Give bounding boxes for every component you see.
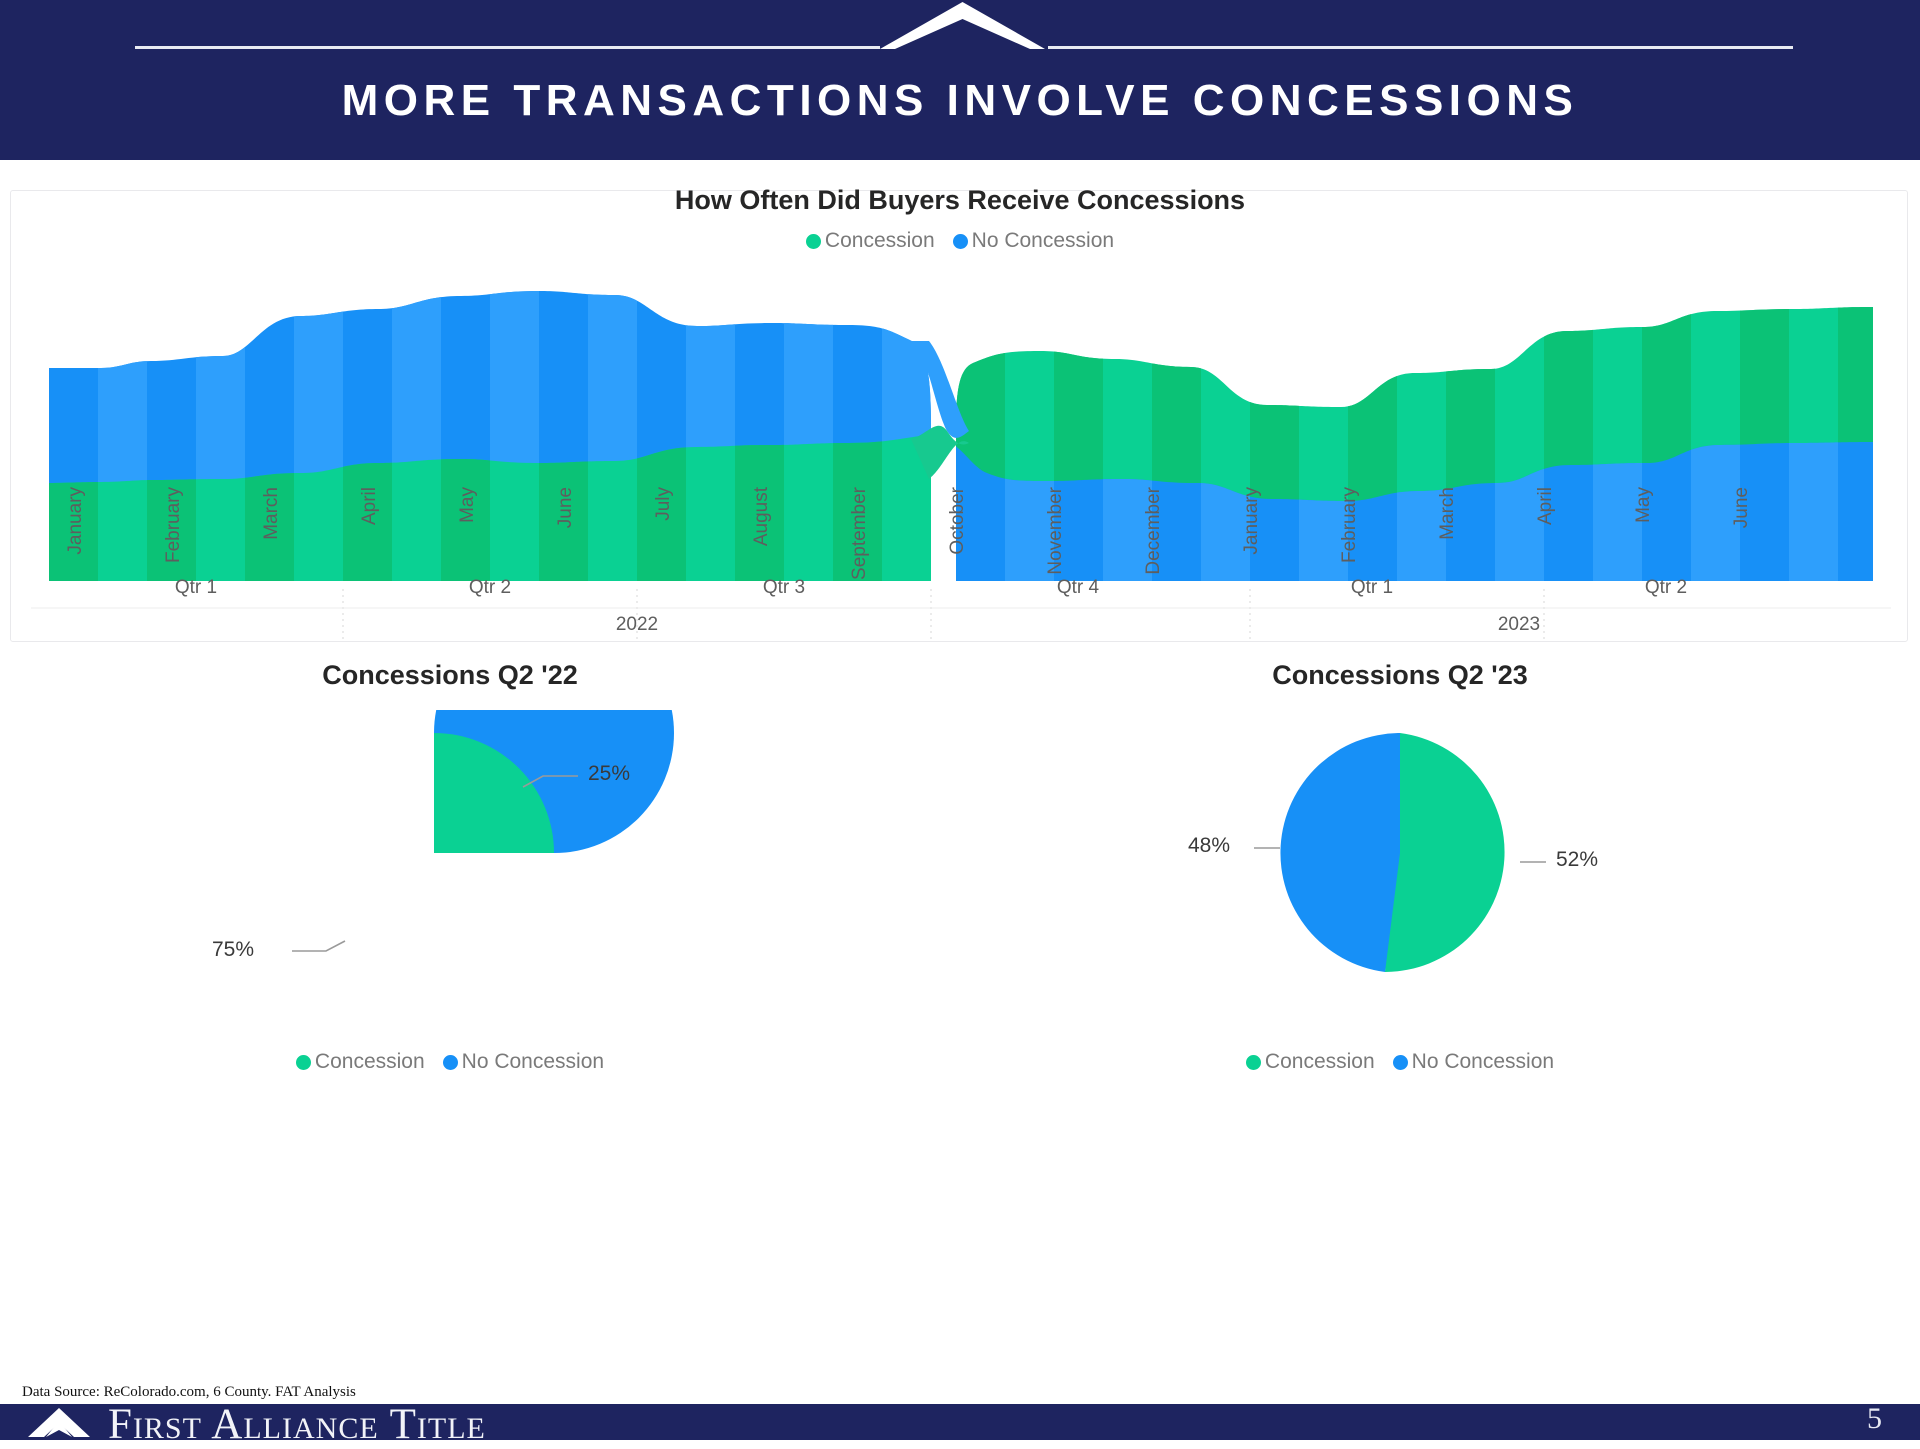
area-segment-2022-jan-sep: [11, 191, 971, 643]
pie-value-concession-q2-2022: 25%: [588, 762, 630, 786]
page-number: 5: [1867, 1402, 1882, 1436]
pie-leader-line-75: [292, 941, 345, 951]
header-rule-right: [1048, 46, 1793, 49]
pie-chart-q2-2023: 52% 48%: [960, 710, 1840, 1000]
chevron-up-logo-icon-footer: [28, 1408, 90, 1438]
pie-legend-q2-2022: Concession No Concession: [10, 1050, 890, 1074]
pie-legend-item-concession-q2-2022[interactable]: Concession: [296, 1050, 425, 1074]
pie-value-no-concession-q2-2023: 48%: [1188, 834, 1230, 858]
slide-header: MORE TRANSACTIONS INVOLVE CONCESSIONS: [0, 0, 1920, 160]
pie-legend-swatch-no-concession-q2-2022: [443, 1055, 458, 1070]
pie-chart-q2-2022: 25% 75%: [10, 710, 890, 1000]
pie-slice-concession-q2-2023[interactable]: [1385, 733, 1505, 972]
quarter-gridlines: [343, 589, 1544, 643]
chevron-up-logo-icon: [880, 2, 1045, 52]
pie-panel-q2-2023: Concessions Q2 '23 52% 48% Concession No…: [960, 650, 1840, 1080]
pie-legend-item-no-concession-q2-2023[interactable]: No Concession: [1393, 1050, 1554, 1074]
header-rule-left: [135, 46, 880, 49]
pie-legend-item-no-concession-q2-2022[interactable]: No Concession: [443, 1050, 604, 1074]
pie-legend-swatch-concession-q2-2023: [1246, 1055, 1261, 1070]
pie-panel-q2-2022: Concessions Q2 '22 25% 75% Concession No…: [10, 650, 890, 1080]
area-segment-2022-oct-2023-jun: [941, 191, 1909, 643]
pie-legend-swatch-concession-q2-2022: [296, 1055, 311, 1070]
pie-title-q2-2022: Concessions Q2 '22: [10, 660, 890, 691]
pie-legend-item-concession-q2-2023[interactable]: Concession: [1246, 1050, 1375, 1074]
pie-value-no-concession-q2-2022: 75%: [212, 938, 254, 962]
pie-title-q2-2023: Concessions Q2 '23: [960, 660, 1840, 691]
data-source-note: Data Source: ReColorado.com, 6 County. F…: [22, 1384, 356, 1401]
pie-legend-q2-2023: Concession No Concession: [960, 1050, 1840, 1074]
area-chart-panel: How Often Did Buyers Receive Concessions…: [10, 190, 1908, 642]
pie-legend-label-no-concession-q2-2022: No Concession: [462, 1050, 604, 1074]
brand-name: First Alliance Title: [108, 1400, 486, 1449]
pie-legend-label-no-concession-q2-2023: No Concession: [1412, 1050, 1554, 1074]
pie-value-concession-q2-2023: 52%: [1556, 848, 1598, 872]
pie-legend-swatch-no-concession-q2-2023: [1393, 1055, 1408, 1070]
pie-legend-label-concession-q2-2022: Concession: [315, 1050, 425, 1074]
pie-legend-label-concession-q2-2023: Concession: [1265, 1050, 1375, 1074]
area-chart-plot: [11, 191, 1909, 643]
page-title: MORE TRANSACTIONS INVOLVE CONCESSIONS: [0, 76, 1920, 126]
pie-slice-no-concession-q2-2023[interactable]: [1280, 733, 1400, 972]
